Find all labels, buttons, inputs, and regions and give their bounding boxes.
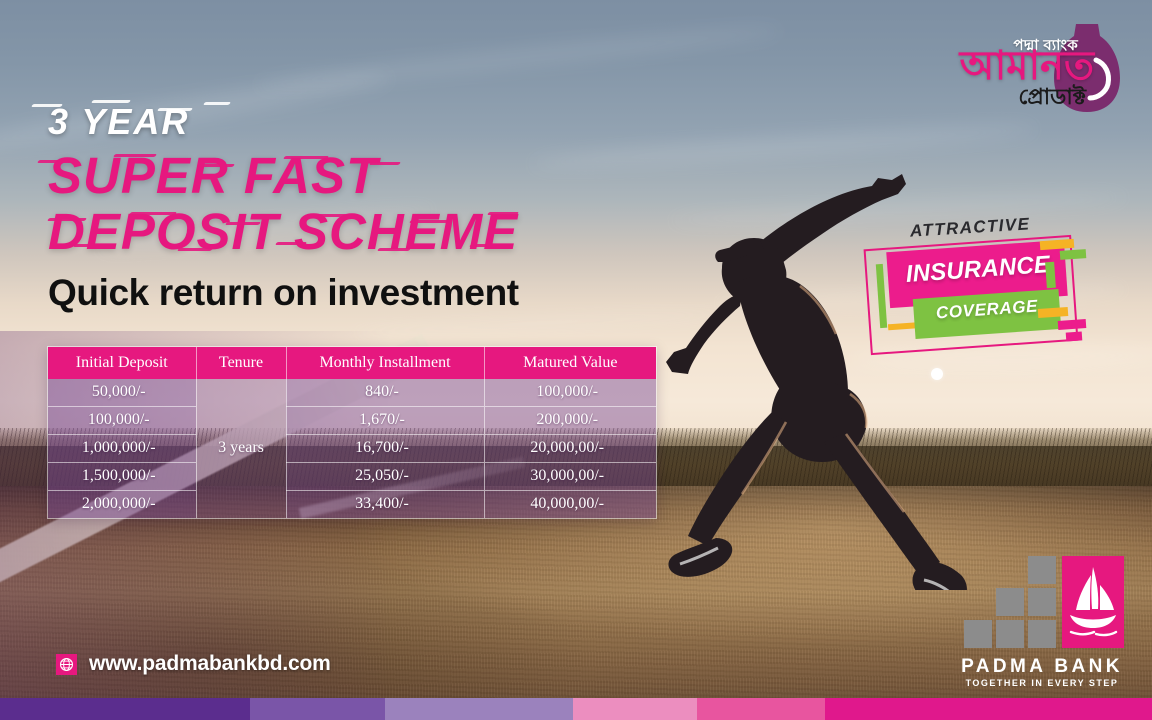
logo-mark xyxy=(958,572,1124,650)
headline-eyebrow: 3 YEAR xyxy=(48,104,608,140)
logo-square xyxy=(964,620,992,648)
cell-monthly-installment: 1,670/- xyxy=(286,407,484,435)
column-header-tenure: Tenure xyxy=(196,347,286,379)
cell-matured-value: 30,000,00/- xyxy=(484,463,656,491)
table-row: 1,000,000/- 16,700/- 20,000,00/- xyxy=(48,435,656,463)
cell-tenure: 3 years xyxy=(196,379,286,518)
product-logo-product-label: প্রোডাক্ট xyxy=(1018,86,1086,108)
padma-bank-logo: PADMA BANK TOGETHER IN EVERY STEP xyxy=(958,572,1124,690)
color-strip-segment-3 xyxy=(385,698,573,720)
cell-initial-deposit: 50,000/- xyxy=(48,379,196,407)
column-header-initial-deposit: Initial Deposit xyxy=(48,347,196,379)
cell-matured-value: 200,000/- xyxy=(484,407,656,435)
cell-monthly-installment: 33,400/- xyxy=(286,491,484,519)
badge-accent-green-2 xyxy=(1045,262,1056,289)
cell-matured-value: 20,000,00/- xyxy=(484,435,656,463)
column-header-matured-value: Matured Value xyxy=(484,347,656,379)
logo-square xyxy=(996,588,1024,616)
badge-accent-pink-2 xyxy=(1066,331,1083,341)
color-strip-segment-6 xyxy=(825,698,1152,720)
logo-square xyxy=(1028,588,1056,616)
table-row: 1,500,000/- 25,050/- 30,000,00/- xyxy=(48,463,656,491)
headline-line-1: SUPER FAST xyxy=(48,150,608,202)
color-strip-segment-4 xyxy=(573,698,697,720)
cell-monthly-installment: 25,050/- xyxy=(286,463,484,491)
promotional-banner: পদ্মা ব্যাংক আমানত প্রোডাক্ট 3 YEAR SUPE… xyxy=(0,0,1152,720)
amanat-product-logo: পদ্মা ব্যাংক আমানত প্রোডাক্ট xyxy=(940,14,1130,118)
cell-matured-value: 40,000,00/- xyxy=(484,491,656,519)
table-header-row: Initial Deposit Tenure Monthly Installme… xyxy=(48,347,656,379)
cell-matured-value: 100,000/- xyxy=(484,379,656,407)
headline-subtitle: Quick return on investment xyxy=(48,274,608,311)
cell-initial-deposit: 100,000/- xyxy=(48,407,196,435)
table-row: 100,000/- 1,670/- 200,000/- xyxy=(48,407,656,435)
bottom-color-strip xyxy=(0,698,1152,720)
logo-square xyxy=(1028,620,1056,648)
badge-accent-green-1 xyxy=(1060,249,1087,260)
logo-square xyxy=(1028,556,1056,584)
globe-icon xyxy=(56,654,77,675)
insurance-coverage-badge: ATTRACTIVE INSURANCE COVERAGE xyxy=(862,216,1094,356)
product-logo-amanat-label: আমানত xyxy=(960,46,1094,86)
deposit-rate-table: Initial Deposit Tenure Monthly Installme… xyxy=(48,347,656,518)
table-row: 50,000/- 3 years 840/- 100,000/- xyxy=(48,379,656,407)
sailboat-icon xyxy=(1062,556,1124,648)
website-footer[interactable]: www.padmabankbd.com xyxy=(56,652,331,676)
cell-initial-deposit: 2,000,000/- xyxy=(48,491,196,519)
color-strip-segment-2 xyxy=(250,698,385,720)
column-header-monthly-installment: Monthly Installment xyxy=(286,347,484,379)
headline-block: 3 YEAR SUPER FAST DEPOSIT SCHEME Quick r… xyxy=(48,104,608,311)
cell-monthly-installment: 16,700/- xyxy=(286,435,484,463)
badge-attractive-label: ATTRACTIVE xyxy=(910,214,1031,241)
badge-accent-pink-1 xyxy=(1058,319,1087,330)
cell-initial-deposit: 1,000,000/- xyxy=(48,435,196,463)
decorative-dot xyxy=(931,368,943,380)
bank-logo-name: PADMA BANK xyxy=(960,656,1124,678)
color-strip-segment-5 xyxy=(697,698,825,720)
table-row: 2,000,000/- 33,400/- 40,000,00/- xyxy=(48,491,656,519)
color-strip-segment-1 xyxy=(0,698,250,720)
cell-initial-deposit: 1,500,000/- xyxy=(48,463,196,491)
cell-monthly-installment: 840/- xyxy=(286,379,484,407)
website-url[interactable]: www.padmabankbd.com xyxy=(89,652,331,676)
headline-line-2: DEPOSIT SCHEME xyxy=(48,206,608,258)
logo-square xyxy=(996,620,1024,648)
bank-logo-tagline: TOGETHER IN EVERY STEP xyxy=(960,678,1124,688)
